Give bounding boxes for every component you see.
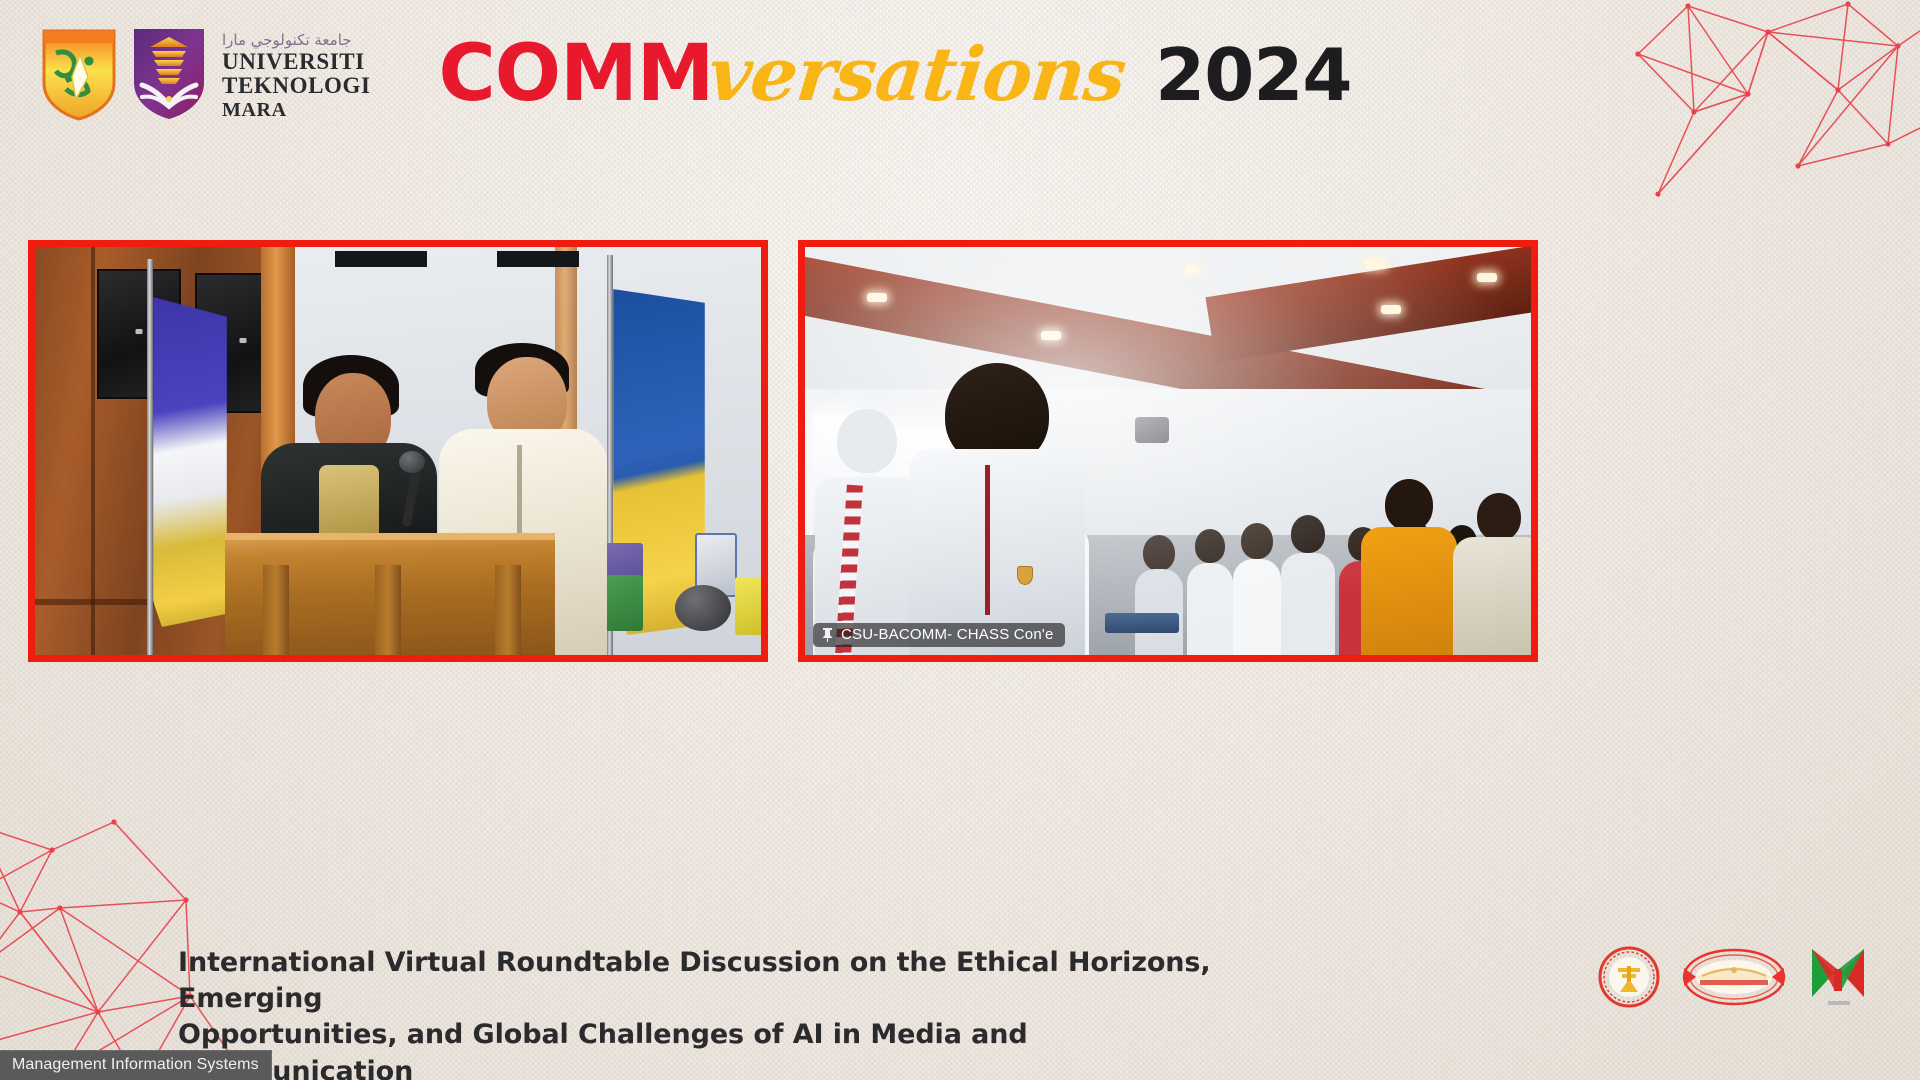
desk bbox=[1105, 613, 1179, 633]
student-with-sash bbox=[815, 409, 919, 655]
caption-line-1: International Virtual Roundtable Discuss… bbox=[178, 945, 1248, 1017]
school-badge bbox=[1017, 566, 1033, 585]
uniform-tie bbox=[985, 465, 990, 615]
partner-logo-green-red-emblem bbox=[1808, 945, 1868, 1009]
student-uniform bbox=[1453, 537, 1538, 655]
universiti-teknologi-mara-crest-icon bbox=[132, 27, 206, 121]
projector-screen-bar bbox=[497, 251, 579, 267]
podium bbox=[225, 533, 555, 655]
student-head bbox=[1195, 529, 1225, 563]
student bbox=[1233, 523, 1281, 655]
wall-projector bbox=[1135, 417, 1169, 443]
student bbox=[1135, 535, 1183, 655]
student-head bbox=[1477, 493, 1521, 541]
uitm-line-mara: Mara bbox=[222, 98, 371, 122]
student-uniform bbox=[1233, 559, 1281, 655]
brand-comm-text: COMM bbox=[439, 39, 714, 109]
projector-screen-bar bbox=[335, 251, 427, 267]
partner-logo-circular-seal bbox=[1598, 946, 1660, 1008]
flag-cloth bbox=[153, 297, 227, 627]
brand-versations-text: versations bbox=[706, 42, 1129, 109]
uitm-line-teknologi: Teknologi bbox=[222, 74, 371, 98]
student-orange-jacket bbox=[1453, 493, 1538, 655]
microphone-head bbox=[399, 451, 425, 473]
philippine-flag bbox=[147, 259, 233, 659]
classroom-scene bbox=[805, 247, 1531, 655]
uitm-arabic-text: جامعة تكنولوجي مارا bbox=[222, 31, 371, 50]
student-orange-jacket bbox=[1361, 479, 1457, 655]
video-stage: CSU-BACOMM- CHASS Con'e bbox=[28, 240, 1538, 662]
student-head bbox=[1385, 479, 1433, 531]
video-tile-classroom[interactable]: CSU-BACOMM- CHASS Con'e bbox=[798, 240, 1538, 662]
side-container bbox=[735, 577, 768, 635]
uitm-negeri-sembilan-crest-icon bbox=[40, 27, 118, 121]
taskbar-window-title-text: Management Information Systems bbox=[12, 1056, 259, 1073]
student bbox=[1281, 515, 1335, 655]
microphone-head bbox=[675, 585, 731, 631]
ceiling-downlight bbox=[1365, 259, 1385, 268]
ceiling-downlight bbox=[1381, 305, 1401, 314]
uitm-wordmark: جامعة تكنولوجي مارا Universiti Teknologi… bbox=[222, 26, 371, 122]
taskbar-window-title[interactable]: Management Information Systems bbox=[0, 1050, 272, 1080]
header-branding: جامعة تكنولوجي مارا Universiti Teknologi… bbox=[40, 26, 1352, 122]
podium-leg bbox=[263, 565, 289, 655]
student-head bbox=[1241, 523, 1273, 559]
participant-name-text: CSU-BACOMM- CHASS Con'e bbox=[841, 626, 1054, 643]
ceiling-downlight bbox=[1477, 273, 1497, 282]
flag-pole bbox=[147, 259, 153, 659]
ceiling-downlight bbox=[1185, 265, 1199, 274]
student-foreground bbox=[909, 363, 1085, 655]
student-head bbox=[837, 409, 897, 473]
ceiling-downlight bbox=[1041, 331, 1061, 340]
partner-logos bbox=[1598, 945, 1868, 1009]
student-uniform bbox=[1281, 553, 1335, 655]
student-head bbox=[1143, 535, 1175, 571]
event-caption: International Virtual Roundtable Discuss… bbox=[178, 945, 1248, 1080]
caption-line-2: Opportunities, and Global Challenges of … bbox=[178, 1017, 1248, 1080]
student-head bbox=[1291, 515, 1325, 553]
podium-scene bbox=[35, 247, 761, 655]
participant-name-label: CSU-BACOMM- CHASS Con'e bbox=[813, 623, 1065, 647]
wall-seam bbox=[91, 247, 95, 655]
pin-icon bbox=[821, 627, 834, 642]
student bbox=[1187, 529, 1233, 655]
partner-logo-cagayan-state-university bbox=[1682, 946, 1786, 1008]
student-uniform bbox=[1135, 569, 1183, 655]
brand-year-text: 2024 bbox=[1155, 43, 1351, 108]
video-tile-podium[interactable] bbox=[28, 240, 768, 662]
podium-leg bbox=[495, 565, 521, 655]
student-uniform bbox=[1187, 563, 1233, 655]
ceiling-downlight bbox=[867, 293, 887, 302]
podium-leg bbox=[375, 565, 401, 655]
uitm-line-universiti: Universiti bbox=[222, 50, 371, 74]
student-jacket bbox=[1361, 527, 1457, 655]
event-brand-title: COMM versations 2024 bbox=[439, 39, 1352, 109]
